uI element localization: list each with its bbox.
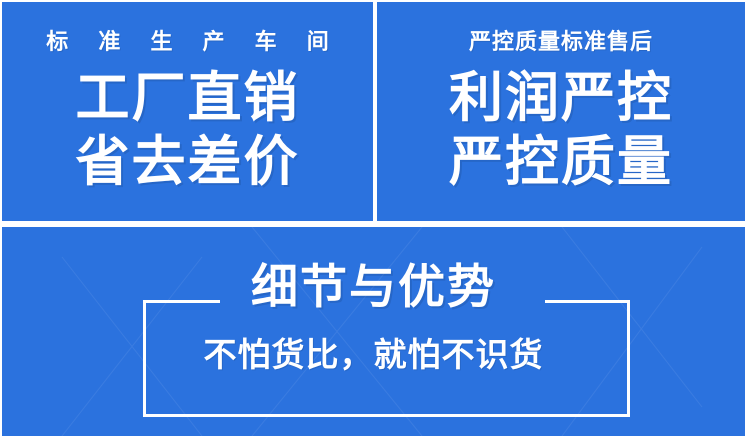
panel-left-eyebrow: 标 准 生 产 车 间 bbox=[34, 31, 341, 53]
panel-left-headline-line1: 工厂直销 bbox=[76, 69, 300, 128]
panel-right-headline-line1: 利润严控 bbox=[449, 69, 673, 128]
panel-right-eyebrow: 严控质量标准售后 bbox=[469, 31, 653, 53]
panel-factory-direct: 标 准 生 产 车 间 工厂直销 省去差价 bbox=[2, 2, 373, 221]
promo-banner: 标 准 生 产 车 间 工厂直销 省去差价 严控质量标准售后 利润严控 严控质量 bbox=[0, 0, 750, 440]
panel-quality-control-content: 严控质量标准售后 利润严控 严控质量 bbox=[377, 2, 745, 221]
bottom-panel-subtitle: 不怕货比，就怕不识货 bbox=[2, 338, 745, 371]
panel-factory-direct-content: 标 准 生 产 车 间 工厂直销 省去差价 bbox=[2, 2, 373, 221]
panel-details-advantages: 细节与优势 不怕货比，就怕不识货 bbox=[2, 227, 745, 436]
bottom-panel-title: 细节与优势 bbox=[2, 263, 745, 310]
panel-right-headline-line2: 严控质量 bbox=[449, 133, 673, 192]
panel-quality-control: 严控质量标准售后 利润严控 严控质量 bbox=[377, 2, 745, 221]
frame-edge-bottom bbox=[143, 414, 630, 417]
panel-left-headline-line2: 省去差价 bbox=[76, 133, 300, 192]
